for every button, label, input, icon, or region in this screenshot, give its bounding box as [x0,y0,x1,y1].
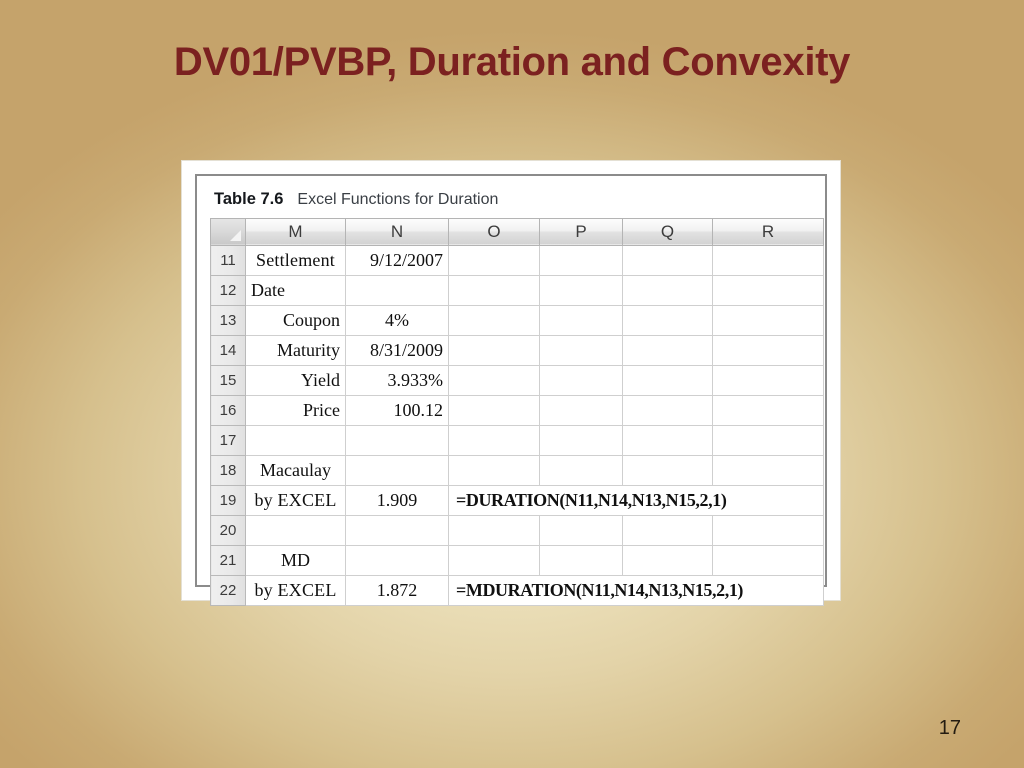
row-header-14[interactable]: 14 [211,335,246,365]
row-header-16[interactable]: 16 [211,395,246,425]
page-number: 17 [939,717,961,740]
row-header-18[interactable]: 18 [211,455,246,485]
cell-p13[interactable] [540,305,623,335]
table-caption: Table 7.6Excel Functions for Duration [214,190,812,209]
cell-p11[interactable] [540,245,623,275]
cell-m19[interactable]: by EXCEL [246,485,346,515]
table-row: 12 Date [211,275,824,305]
cell-m13[interactable]: Coupon [246,305,346,335]
cell-q21[interactable] [623,545,713,575]
cell-o21[interactable] [449,545,540,575]
column-header-p[interactable]: P [540,218,623,245]
cell-q12[interactable] [623,275,713,305]
cell-q14[interactable] [623,335,713,365]
cell-m14[interactable]: Maturity [246,335,346,365]
cell-r16[interactable] [713,395,824,425]
table-row: 13 Coupon 4% [211,305,824,335]
cell-o22-mduration-formula[interactable]: =MDURATION(N11,N14,N13,N15,2,1) [449,575,824,605]
table-row: 16 Price 100.12 [211,395,824,425]
cell-m21[interactable]: MD [246,545,346,575]
cell-r21[interactable] [713,545,824,575]
cell-o13[interactable] [449,305,540,335]
select-all-triangle-icon [230,230,241,241]
cell-r17[interactable] [713,425,824,455]
table-caption-text: Excel Functions for Duration [297,191,498,208]
cell-m17[interactable] [246,425,346,455]
cell-q20[interactable] [623,515,713,545]
row-header-22[interactable]: 22 [211,575,246,605]
cell-m16[interactable]: Price [246,395,346,425]
cell-o18[interactable] [449,455,540,485]
cell-n19[interactable]: 1.909 [346,485,449,515]
cell-r14[interactable] [713,335,824,365]
row-header-11[interactable]: 11 [211,245,246,275]
cell-n12[interactable] [346,275,449,305]
row-header-20[interactable]: 20 [211,515,246,545]
cell-o16[interactable] [449,395,540,425]
cell-p18[interactable] [540,455,623,485]
cell-n18[interactable] [346,455,449,485]
cell-p15[interactable] [540,365,623,395]
cell-n17[interactable] [346,425,449,455]
table-row: 18 Macaulay [211,455,824,485]
cell-p14[interactable] [540,335,623,365]
cell-q18[interactable] [623,455,713,485]
slide: DV01/PVBP, Duration and Convexity Table … [0,0,1024,768]
column-header-n[interactable]: N [346,218,449,245]
row-header-19[interactable]: 19 [211,485,246,515]
column-header-row: M N O P Q R [211,218,824,245]
table-row: 20 [211,515,824,545]
cell-r20[interactable] [713,515,824,545]
figure-panel: Table 7.6Excel Functions for Duration M … [181,160,841,601]
cell-o19-duration-formula[interactable]: =DURATION(N11,N14,N13,N15,2,1) [449,485,824,515]
row-header-21[interactable]: 21 [211,545,246,575]
cell-m15[interactable]: Yield [246,365,346,395]
column-header-q[interactable]: Q [623,218,713,245]
table-row: 21 MD [211,545,824,575]
select-all-corner-cell[interactable] [211,218,246,245]
cell-o20[interactable] [449,515,540,545]
cell-m22[interactable]: by EXCEL [246,575,346,605]
cell-m11[interactable]: Settlement [246,245,346,275]
cell-m12[interactable]: Date [246,275,346,305]
cell-n20[interactable] [346,515,449,545]
row-header-12[interactable]: 12 [211,275,246,305]
table-row: 15 Yield 3.933% [211,365,824,395]
cell-r13[interactable] [713,305,824,335]
cell-m18[interactable]: Macaulay [246,455,346,485]
cell-p16[interactable] [540,395,623,425]
cell-q15[interactable] [623,365,713,395]
column-header-r[interactable]: R [713,218,824,245]
table-row: 11 Settlement 9/12/2007 [211,245,824,275]
cell-m20[interactable] [246,515,346,545]
table-row: 19 by EXCEL 1.909 =DURATION(N11,N14,N13,… [211,485,824,515]
column-header-m[interactable]: M [246,218,346,245]
cell-r11[interactable] [713,245,824,275]
cell-r12[interactable] [713,275,824,305]
cell-n15[interactable]: 3.933% [346,365,449,395]
figure-inner-frame: Table 7.6Excel Functions for Duration M … [195,174,827,587]
table-caption-label: Table 7.6 [214,190,283,208]
cell-n13[interactable]: 4% [346,305,449,335]
cell-p12[interactable] [540,275,623,305]
cell-r18[interactable] [713,455,824,485]
cell-o17[interactable] [449,425,540,455]
row-header-15[interactable]: 15 [211,365,246,395]
row-header-17[interactable]: 17 [211,425,246,455]
cell-n14[interactable]: 8/31/2009 [346,335,449,365]
table-row: 14 Maturity 8/31/2009 [211,335,824,365]
cell-p21[interactable] [540,545,623,575]
cell-q17[interactable] [623,425,713,455]
cell-o11[interactable] [449,245,540,275]
cell-o15[interactable] [449,365,540,395]
cell-n16[interactable]: 100.12 [346,395,449,425]
table-row: 22 by EXCEL 1.872 =MDURATION(N11,N14,N13… [211,575,824,605]
cell-q11[interactable] [623,245,713,275]
cell-n21[interactable] [346,545,449,575]
spreadsheet-table: M N O P Q R 11 Settlement 9/12/2007 [210,218,824,606]
page-title: DV01/PVBP, Duration and Convexity [0,40,1024,85]
cell-n22[interactable]: 1.872 [346,575,449,605]
cell-q16[interactable] [623,395,713,425]
table-row: 17 [211,425,824,455]
cell-o12[interactable] [449,275,540,305]
cell-o14[interactable] [449,335,540,365]
row-header-13[interactable]: 13 [211,305,246,335]
column-header-o[interactable]: O [449,218,540,245]
cell-q13[interactable] [623,305,713,335]
cell-n11[interactable]: 9/12/2007 [346,245,449,275]
cell-r15[interactable] [713,365,824,395]
cell-p17[interactable] [540,425,623,455]
cell-p20[interactable] [540,515,623,545]
